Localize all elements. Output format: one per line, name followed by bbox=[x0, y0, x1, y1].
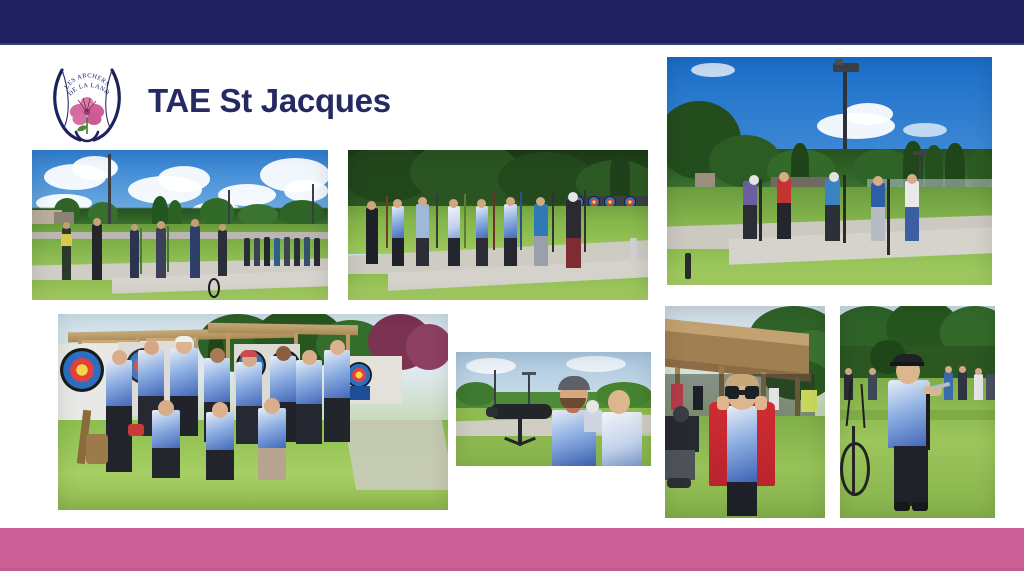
top-accent-bar bbox=[0, 0, 1024, 43]
slide-header: LES ARCHERS DE LA LANDE bbox=[48, 58, 391, 144]
photo-team-group bbox=[58, 314, 448, 510]
photo-archery-line-warmup bbox=[32, 150, 328, 300]
page-title: TAE St Jacques bbox=[148, 82, 391, 120]
bottom-accent-bar bbox=[0, 528, 1024, 570]
club-logo: LES ARCHERS DE LA LANDE bbox=[48, 58, 126, 144]
photo-binoculars-red-jacket bbox=[665, 306, 825, 518]
club-logo-icon: LES ARCHERS DE LA LANDE bbox=[48, 58, 126, 144]
photo-archers-shooting-targets bbox=[348, 150, 648, 300]
photo-spotting-scope-smile bbox=[456, 352, 651, 466]
photo-field-floodlight bbox=[667, 57, 992, 285]
bottom-accent-bar-edge bbox=[0, 568, 1024, 571]
top-accent-bar-edge bbox=[0, 43, 1024, 45]
photo-archer-checking-arrow bbox=[840, 306, 995, 518]
